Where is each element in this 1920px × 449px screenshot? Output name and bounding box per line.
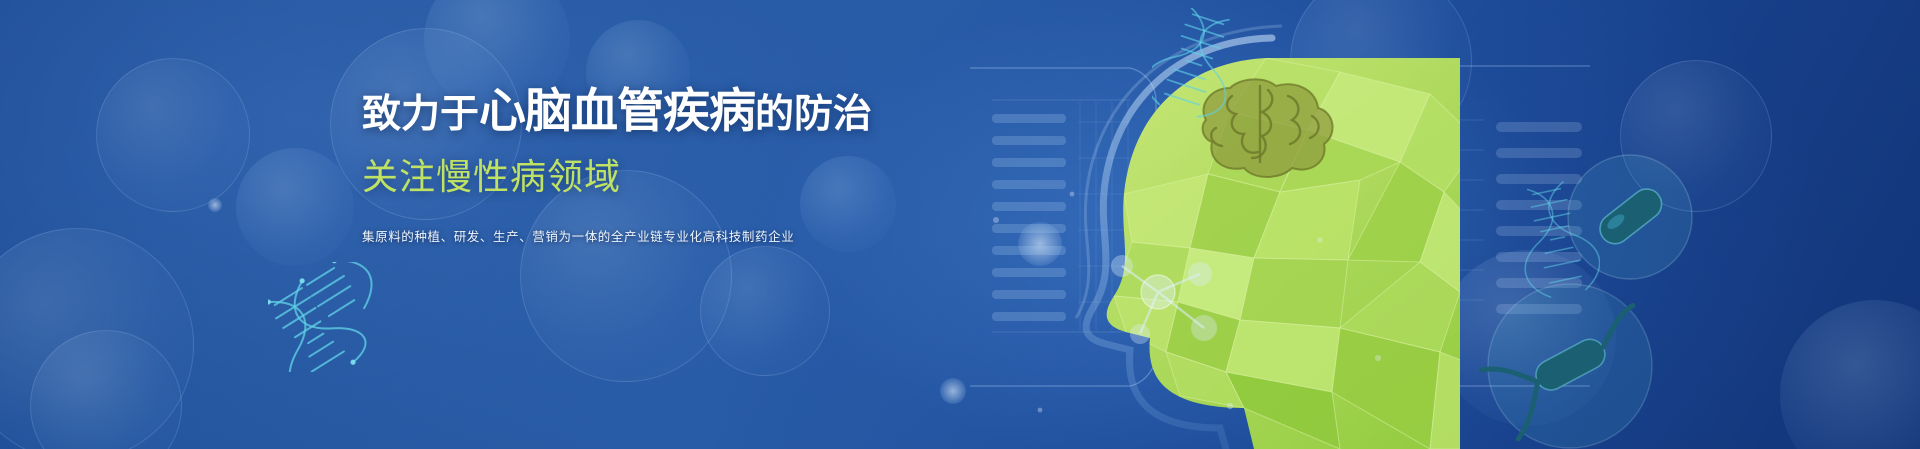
bokeh-dot — [208, 198, 222, 212]
bokeh-circle — [236, 148, 354, 266]
hero-banner: 致力于心脑血管疾病的防治 关注慢性病领域 集原料的种植、研发、生产、营销为一体的… — [0, 0, 1920, 449]
banner-copy: 致力于心脑血管疾病的防治 关注慢性病领域 集原料的种植、研发、生产、营销为一体的… — [362, 86, 1062, 245]
bokeh-circle — [96, 58, 250, 212]
bokeh-circle — [30, 330, 182, 449]
banner-headline: 致力于心脑血管疾病的防治 — [362, 86, 1062, 137]
banner-tagline: 集原料的种植、研发、生产、营销为一体的全产业链专业化高科技制药企业 — [362, 226, 1062, 245]
bokeh-circle — [0, 228, 194, 449]
bacteria-icon — [1560, 152, 1700, 282]
headline-emphasis: 心脑血管疾病 — [479, 84, 755, 137]
banner-subheadline: 关注慢性病领域 — [362, 148, 1062, 200]
dna-helix-icon — [1152, 8, 1242, 118]
headline-trail: 的防治 — [755, 93, 872, 136]
bokeh-circle — [1780, 300, 1920, 449]
headline-lead: 致力于 — [362, 93, 479, 136]
bacteria-flagella-icon — [1478, 280, 1658, 449]
bokeh-circle — [700, 246, 830, 376]
dna-helix-icon — [268, 262, 398, 372]
